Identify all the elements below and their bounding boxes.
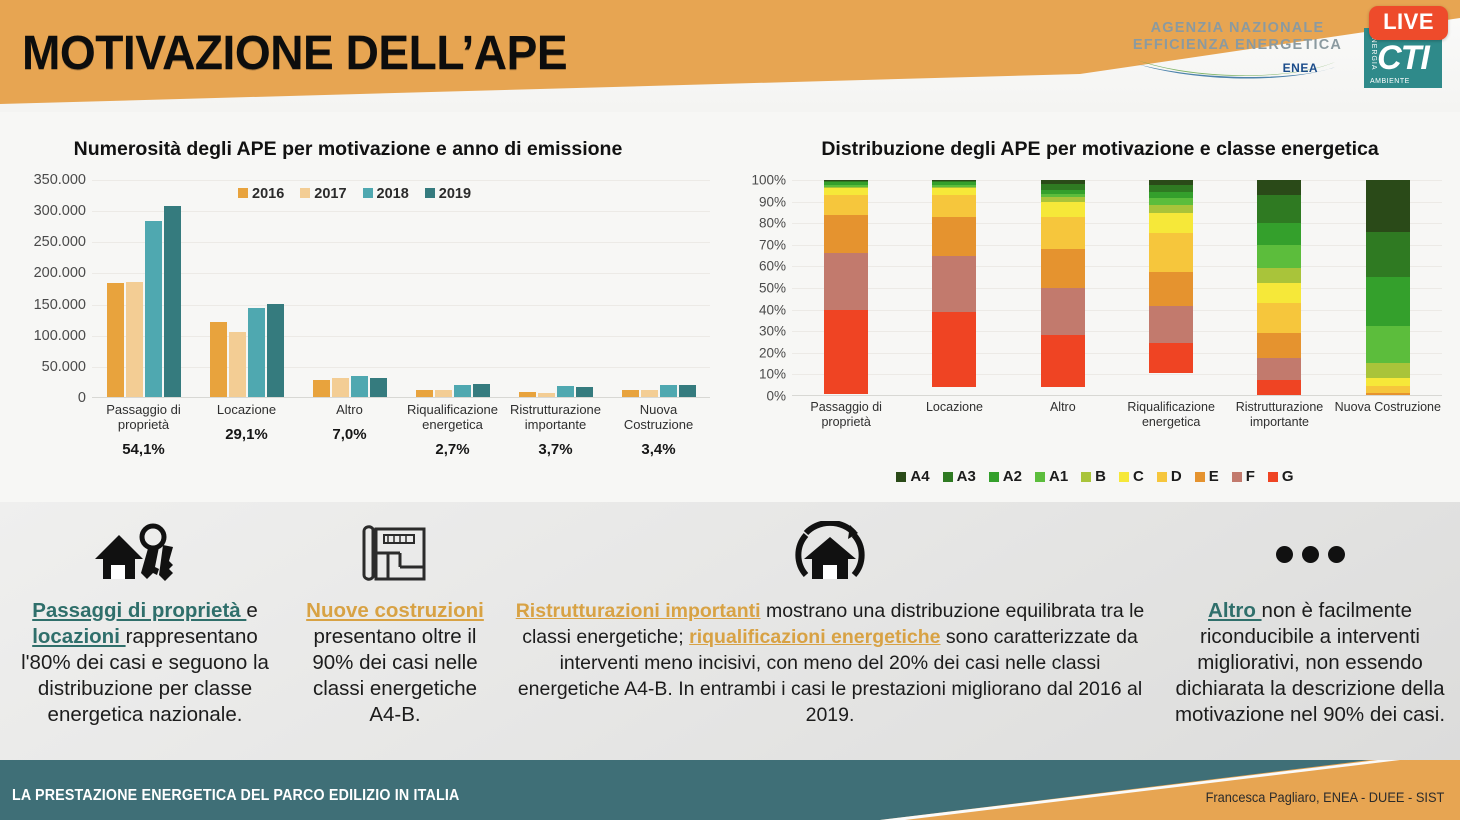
x-tick-label: Passaggio di proprietà	[792, 400, 900, 430]
bar-2017	[332, 378, 349, 397]
insight-panel-nuove: Nuove costruzioni presentano oltre il 90…	[290, 502, 500, 760]
stack-segment-A4	[1257, 180, 1301, 195]
x-tick-label: Riqualificazione energetica	[1117, 400, 1225, 430]
legend-label: 2016	[252, 186, 284, 202]
bar-2019	[267, 304, 284, 397]
slide-footer: LA PRESTAZIONE ENERGETICA DEL PARCO EDIL…	[0, 760, 1460, 820]
bar-group	[607, 180, 710, 397]
cti-wordmark: CTI	[1377, 39, 1429, 78]
legend-item-2016: 2016	[238, 186, 284, 202]
x-tick: Ristrutturazione importante3,7%	[504, 402, 607, 457]
y-tick-label: 90%	[759, 194, 786, 209]
enea-swoosh-graphic: ENEA	[1135, 56, 1340, 80]
bar-group	[195, 180, 298, 397]
legend-swatch	[1268, 472, 1278, 482]
page-title: MOTIVAZIONE DELL’APE	[22, 26, 567, 81]
chart-numerosita-legend: 2016201720182019	[238, 186, 471, 202]
insight-panels: Passaggi di proprietà e locazioni rappre…	[0, 502, 1460, 760]
legend-item-E: E	[1195, 468, 1219, 485]
stack-segment-B	[1366, 363, 1410, 378]
stack-segment-D	[1257, 303, 1301, 333]
y-tick-label: 0	[78, 390, 86, 406]
legend-swatch	[1035, 472, 1045, 482]
insight-panel-ristrutturazioni: Ristrutturazioni importanti mostrano una…	[500, 502, 1160, 760]
bar-group	[504, 180, 607, 397]
bar-2017	[229, 332, 246, 397]
x-tick-label: Nuova Costruzione	[1334, 400, 1442, 430]
y-tick-label: 50%	[759, 281, 786, 296]
category-percent: 3,7%	[504, 442, 607, 457]
bar-2019	[679, 385, 696, 397]
y-tick-label: 30%	[759, 324, 786, 339]
stack-segment-D	[824, 195, 868, 214]
x-tick-label: Locazione	[900, 400, 1008, 430]
x-tick-label: Passaggio di proprietà	[92, 402, 195, 432]
insight-panel-passaggi-text: Passaggi di proprietà e locazioni rappre…	[0, 598, 290, 728]
stacked-bar-group	[1009, 180, 1117, 395]
stack-segment-C	[932, 188, 976, 195]
stacked-bar	[932, 180, 976, 395]
stack-segment-G	[824, 310, 868, 394]
bar-group	[401, 180, 504, 397]
stack-segment-F	[1041, 288, 1085, 336]
legend-item-F: F	[1232, 468, 1255, 485]
bar-2019	[370, 378, 387, 397]
bar-2018	[660, 385, 677, 397]
stack-segment-A1	[1257, 245, 1301, 269]
y-tick-label: 350.000	[34, 172, 86, 188]
blueprint-icon	[290, 520, 500, 588]
y-tick-label: 50.000	[42, 359, 86, 375]
stack-segment-A2	[1366, 277, 1410, 326]
stack-segment-G	[1257, 380, 1301, 395]
bar-2018	[454, 385, 471, 397]
slide-header: MOTIVAZIONE DELL’APE AGENZIA NAZIONALE E…	[0, 0, 1460, 112]
x-tick-label: Ristrutturazione importante	[504, 402, 607, 432]
chart-distribuzione-plot	[792, 180, 1442, 396]
insight-panel-altro-text: Altro non è facilmente riconducibile a i…	[1160, 598, 1460, 728]
x-tick-label: Locazione	[195, 402, 298, 417]
legend-item-2018: 2018	[363, 186, 409, 202]
stacked-bar-group	[792, 180, 900, 395]
stack-segment-A3	[1366, 232, 1410, 277]
footer-title: LA PRESTAZIONE ENERGETICA DEL PARCO EDIL…	[12, 787, 460, 805]
y-tick-label: 250.000	[34, 234, 86, 250]
legend-swatch	[300, 188, 310, 198]
stack-segment-F	[932, 256, 976, 312]
category-percent: 2,7%	[401, 442, 504, 457]
bar-2019	[164, 206, 181, 397]
legend-label: A1	[1049, 468, 1068, 485]
bar-2018	[248, 308, 265, 397]
bar-2018	[351, 376, 368, 397]
stack-segment-E	[1149, 272, 1193, 307]
legend-label: E	[1209, 468, 1219, 485]
stack-segment-C	[1257, 283, 1301, 302]
legend-item-D: D	[1157, 468, 1182, 485]
stack-segment-G	[1149, 343, 1193, 373]
stack-segment-B	[1257, 268, 1301, 283]
stacked-bar	[1149, 180, 1193, 395]
charts-region: Numerosità degli APE per motivazione e a…	[0, 112, 1460, 502]
y-tick-label: 150.000	[34, 297, 86, 313]
stacked-bar-group	[900, 180, 1008, 395]
legend-swatch	[896, 472, 906, 482]
legend-label: 2017	[314, 186, 346, 202]
x-tick: Nuova Costruzione3,4%	[607, 402, 710, 457]
legend-swatch	[943, 472, 953, 482]
bar-2017	[641, 390, 658, 397]
y-tick-label: 100.000	[34, 328, 86, 344]
legend-swatch	[1195, 472, 1205, 482]
text-segment: Ristrutturazioni importanti	[516, 600, 761, 622]
stack-segment-E	[824, 215, 868, 254]
y-tick-label: 60%	[759, 259, 786, 274]
x-tick-label: Altro	[1009, 400, 1117, 430]
chart-distribuzione: Distribuzione degli APE per motivazione …	[730, 138, 1460, 508]
enea-logo-line1: AGENZIA NAZIONALE	[1130, 20, 1345, 37]
bar-2017	[538, 393, 555, 397]
stack-segment-F	[1257, 358, 1301, 380]
y-tick-label: 20%	[759, 345, 786, 360]
x-tick-label: Ristrutturazione importante	[1225, 400, 1333, 430]
insight-panel-nuove-text: Nuove costruzioni presentano oltre il 90…	[290, 598, 500, 728]
stacked-bar-group	[1225, 180, 1333, 395]
bar-2016	[313, 380, 330, 397]
stack-segment-E	[932, 217, 976, 256]
stack-segment-B	[1149, 205, 1193, 214]
y-tick-label: 70%	[759, 237, 786, 252]
stack-segment-E	[1257, 333, 1301, 359]
text-segment: riqualificazioni energetiche	[689, 626, 940, 648]
legend-label: D	[1171, 468, 1182, 485]
insight-panel-altro: Altro non è facilmente riconducibile a i…	[1160, 502, 1460, 760]
stack-segment-A1	[1366, 326, 1410, 363]
chart-distribuzione-y-axis: 100%90%80%70%60%50%40%30%20%10%0%	[730, 180, 786, 396]
bar-2019	[473, 384, 490, 397]
ellipsis-dot	[1328, 546, 1345, 563]
legend-swatch	[1232, 472, 1242, 482]
stack-segment-A3	[1257, 195, 1301, 223]
chart-numerosita-title: Numerosità degli APE per motivazione e a…	[48, 138, 648, 161]
legend-label: F	[1246, 468, 1255, 485]
chart-numerosita-y-axis: 350.000300.000250.000200.000150.000100.0…	[8, 180, 86, 398]
legend-item-G: G	[1268, 468, 1294, 485]
legend-swatch	[1157, 472, 1167, 482]
y-tick-label: 40%	[759, 302, 786, 317]
stacked-bar-group	[1334, 180, 1442, 395]
bar-2016	[416, 390, 433, 397]
enea-wordmark: ENEA	[1283, 61, 1318, 75]
legend-swatch	[1119, 472, 1129, 482]
legend-swatch	[989, 472, 999, 482]
bar-2016	[210, 322, 227, 397]
legend-label: A3	[957, 468, 976, 485]
live-badge: LIVE	[1369, 6, 1448, 40]
legend-swatch	[238, 188, 248, 198]
chart-numerosita-x-axis: Passaggio di proprietà54,1%Locazione29,1…	[92, 402, 710, 457]
stack-segment-C	[1366, 378, 1410, 387]
text-segment: Nuove costruzioni	[306, 599, 484, 622]
stacked-bar-group	[1117, 180, 1225, 395]
stack-segment-D	[932, 195, 976, 217]
bar-2017	[126, 282, 143, 397]
stacked-bar	[1366, 180, 1410, 395]
chart-numerosita: Numerosità degli APE per motivazione e a…	[8, 138, 724, 508]
stack-segment-E	[1366, 393, 1410, 395]
chart-distribuzione-title: Distribuzione degli APE per motivazione …	[750, 138, 1450, 161]
ellipsis-dot	[1302, 546, 1319, 563]
legend-item-A1: A1	[1035, 468, 1068, 485]
chart-distribuzione-legend: A4A3A2A1BCDEFG	[730, 468, 1460, 485]
y-tick-label: 10%	[759, 367, 786, 382]
cti-bottom-text: AMBIENTE	[1370, 78, 1410, 85]
stack-segment-D	[1149, 233, 1193, 272]
enea-logo-line2: EFFICIENZA ENERGETICA	[1130, 37, 1345, 54]
footer-author: Francesca Pagliaro, ENEA - DUEE - SIST	[1205, 790, 1444, 805]
legend-label: G	[1282, 468, 1294, 485]
category-percent: 7,0%	[298, 427, 401, 442]
ellipsis-dot	[1276, 546, 1293, 563]
insight-panel-passaggi: Passaggi di proprietà e locazioni rappre…	[0, 502, 290, 760]
legend-item-2017: 2017	[300, 186, 346, 202]
stack-segment-A2	[1257, 223, 1301, 245]
text-segment: presentano oltre il 90% dei casi nelle c…	[312, 625, 477, 726]
stack-segment-D	[1041, 217, 1085, 249]
bar-group	[298, 180, 401, 397]
stack-segment-A4	[1366, 180, 1410, 232]
stack-segment-C	[1041, 202, 1085, 217]
legend-item-C: C	[1119, 468, 1144, 485]
y-tick-label: 0%	[766, 389, 786, 404]
bar-2016	[622, 390, 639, 397]
stack-segment-C	[1149, 213, 1193, 232]
text-segment: Passaggi di proprietà	[32, 599, 246, 622]
text-segment: Altro	[1208, 599, 1262, 622]
legend-label: C	[1133, 468, 1144, 485]
y-tick-label: 300.000	[34, 203, 86, 219]
chart-numerosita-bars	[92, 180, 710, 397]
legend-swatch	[425, 188, 435, 198]
legend-item-B: B	[1081, 468, 1106, 485]
category-percent: 29,1%	[195, 427, 298, 442]
stack-segment-F	[1149, 306, 1193, 343]
legend-label: A4	[910, 468, 929, 485]
legend-item-A3: A3	[943, 468, 976, 485]
x-tick: Locazione29,1%	[195, 402, 298, 457]
bar-2016	[107, 283, 124, 397]
x-tick-label: Nuova Costruzione	[607, 402, 710, 432]
bar-2018	[145, 221, 162, 397]
legend-item-2019: 2019	[425, 186, 471, 202]
stacked-bar	[824, 180, 868, 395]
legend-label: B	[1095, 468, 1106, 485]
y-tick-label: 200.000	[34, 265, 86, 281]
chart-distribuzione-bars	[792, 180, 1442, 395]
stack-segment-E	[1041, 249, 1085, 288]
x-tick: Riqualificazione energetica2,7%	[401, 402, 504, 457]
house-refresh-icon	[500, 520, 1160, 588]
category-percent: 54,1%	[92, 442, 195, 457]
bar-2016	[519, 392, 536, 397]
bar-2018	[557, 386, 574, 397]
legend-swatch	[363, 188, 373, 198]
bar-2019	[576, 387, 593, 397]
x-tick: Passaggio di proprietà54,1%	[92, 402, 195, 457]
insight-panel-ristrutturazioni-text: Ristrutturazioni importanti mostrano una…	[500, 598, 1160, 728]
x-tick-label: Riqualificazione energetica	[401, 402, 504, 432]
legend-item-A2: A2	[989, 468, 1022, 485]
x-tick-label: Altro	[298, 402, 401, 417]
x-tick: Altro7,0%	[298, 402, 401, 457]
house-keys-icon	[0, 520, 290, 588]
category-percent: 3,4%	[607, 442, 710, 457]
bar-group	[92, 180, 195, 397]
legend-item-A4: A4	[896, 468, 929, 485]
chart-distribuzione-x-axis: Passaggio di proprietàLocazioneAltroRiqu…	[792, 400, 1442, 430]
text-segment: e	[246, 599, 257, 622]
legend-swatch	[1081, 472, 1091, 482]
text-segment: locazioni	[32, 625, 125, 648]
bar-2017	[435, 390, 452, 397]
legend-label: 2018	[377, 186, 409, 202]
stack-segment-C	[824, 188, 868, 195]
ellipsis-icon	[1160, 520, 1460, 588]
y-tick-label: 100%	[751, 173, 786, 188]
enea-logo: AGENZIA NAZIONALE EFFICIENZA ENERGETICA …	[1130, 20, 1345, 82]
stacked-bar	[1257, 180, 1301, 395]
stack-segment-G	[1041, 335, 1085, 387]
chart-numerosita-plot	[92, 180, 710, 398]
stack-segment-F	[824, 253, 868, 309]
legend-label: 2019	[439, 186, 471, 202]
legend-label: A2	[1003, 468, 1022, 485]
y-tick-label: 80%	[759, 216, 786, 231]
stacked-bar	[1041, 180, 1085, 395]
stack-segment-G	[932, 312, 976, 388]
